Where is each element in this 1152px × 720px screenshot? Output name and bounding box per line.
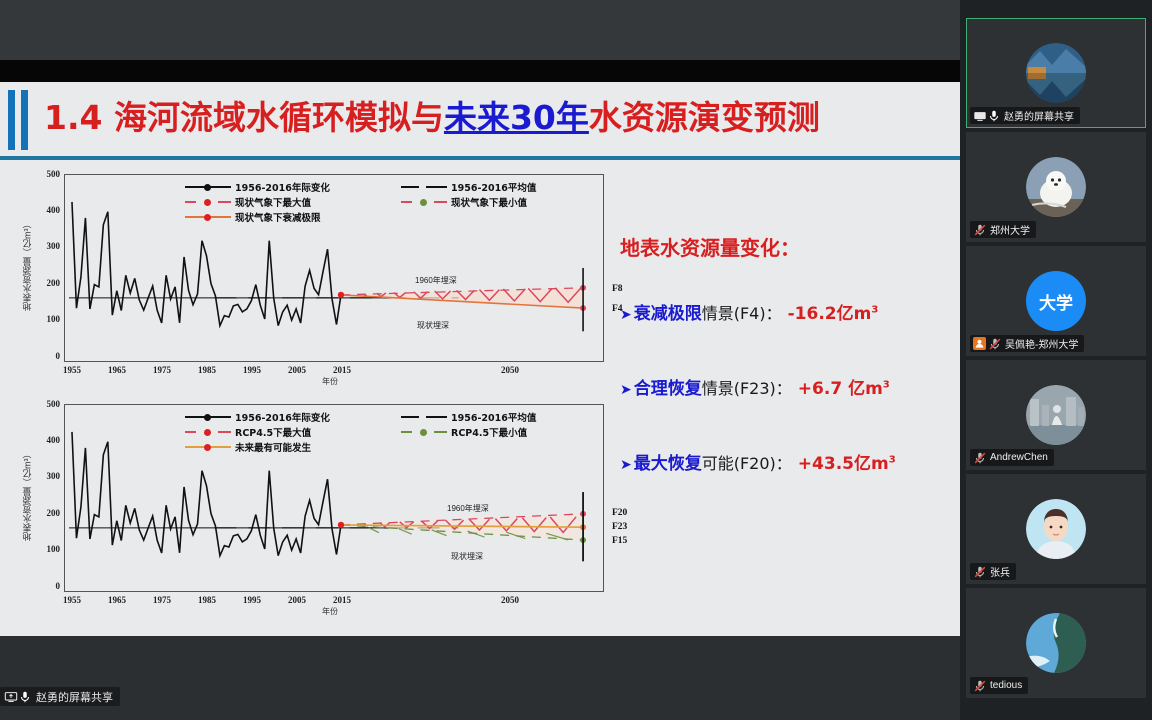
meeting-screen-share-view: 1.4 海河流域水循环模拟与未来30年水资源演变预测 地表水资源量（亿m³） 5… — [0, 0, 1152, 720]
legend-symbol-dashed-marker — [185, 196, 231, 207]
chart2-projection-fan — [338, 511, 586, 543]
ytick: 200 — [47, 278, 61, 288]
microphone-muted-icon — [988, 337, 1002, 351]
bullet-list: 地表水资源量变化： ➤ 衰减极限 情景(F4)： -16.2亿m3 ➤ 合理恢复… — [620, 232, 950, 524]
bullet-value-text: +6.7 亿m — [798, 379, 883, 399]
bullet-scenario-name: 最大恢复 — [634, 449, 702, 474]
legend-entry: RCP4.5下最大值 — [185, 424, 401, 439]
screen-share-icon — [4, 690, 18, 704]
bullet-value-exponent: 3 — [889, 454, 896, 465]
participant-tile-zhaoyong-share[interactable]: 赵勇的屏幕共享 — [966, 18, 1146, 128]
chart1-yaxis-title: 地表水资源量（亿m³） — [18, 180, 36, 350]
chart2-yaxis-ticks: 500 400 300 200 100 0 — [36, 396, 62, 592]
ytick: 300 — [47, 471, 61, 481]
microphone-muted-icon — [973, 223, 987, 237]
ytick: 500 — [47, 169, 61, 179]
chart-rcp45: 地表水资源量（亿m³） 500 400 300 200 100 0 — [16, 396, 612, 624]
slide-title-bar: 1.4 海河流域水循环模拟与未来30年水资源演变预测 — [0, 82, 960, 154]
person-illustration-avatar — [1026, 499, 1086, 559]
xtick: 1955 — [63, 365, 81, 375]
screen-share-icon — [973, 109, 987, 123]
participant-tile-zhengzhou-daxue[interactable]: 郑州大学 — [966, 132, 1146, 242]
participant-tile-tedious[interactable]: tedious — [966, 588, 1146, 698]
list-item: ➤ 衰减极限 情景(F4)： -16.2亿m3 — [620, 299, 950, 324]
xtick: 1985 — [198, 595, 216, 605]
legend-label: RCP4.5下最小值 — [451, 425, 527, 439]
bullet-arrow-icon: ➤ — [620, 381, 632, 398]
chart1-annotation-above: 1960年埋深 — [415, 275, 457, 286]
legend-entry: 现状气象下衰减极限 — [185, 209, 401, 224]
initials-avatar: 大学 — [1026, 271, 1086, 331]
legend-entry: 1956-2016年际变化 — [185, 179, 401, 194]
ytick: 0 — [56, 351, 61, 361]
ytick: 100 — [47, 544, 61, 554]
ytick: 200 — [47, 508, 61, 518]
letterbox-black-band — [0, 60, 960, 82]
legend-symbol-solid-marker — [185, 411, 231, 422]
bullet-arrow-icon: ➤ — [620, 456, 632, 473]
chart2-plot-area: 1956-2016年际变化 1956-2016平均值 — [64, 404, 604, 592]
participant-label: 赵勇的屏幕共享 — [970, 107, 1080, 124]
participant-name: AndrewChen — [990, 452, 1048, 463]
participant-label: 郑州大学 — [970, 221, 1036, 238]
ytick: 0 — [56, 581, 61, 591]
legend-label: 现状气象下最大值 — [235, 195, 311, 209]
participant-name: 郑州大学 — [990, 222, 1030, 237]
legend-symbol-dashed — [401, 411, 447, 422]
chart2-legend: 1956-2016年际变化 1956-2016平均值 — [185, 409, 589, 454]
xtick: 1975 — [153, 595, 171, 605]
avatar-initials: 大学 — [1039, 289, 1073, 314]
bullets-heading: 地表水资源量变化： — [620, 232, 950, 261]
legend-label: 1956-2016平均值 — [451, 410, 536, 424]
bullet-value-exponent: 3 — [871, 304, 878, 315]
participant-label: AndrewChen — [970, 449, 1054, 466]
page-title: 1.4 海河流域水循环模拟与未来30年水资源演变预测 — [44, 88, 950, 148]
letterbox-bottom — [0, 636, 960, 720]
lake-landscape-photo-avatar — [1026, 43, 1086, 103]
legend-label: 1956-2016年际变化 — [235, 410, 330, 424]
participant-label: 张兵 — [970, 563, 1016, 580]
legend-symbol-dashed — [401, 181, 447, 192]
screen-share-status-bar: 赵勇的屏幕共享 — [0, 687, 120, 706]
legend-entry: 现状气象下最小值 — [401, 194, 589, 209]
shared-screen-area: 1.4 海河流域水循环模拟与未来30年水资源演变预测 地表水资源量（亿m³） 5… — [0, 0, 960, 720]
chart2-xaxis-title: 年份 — [322, 606, 338, 617]
participant-filmstrip[interactable]: 赵勇的屏幕共享 — [960, 0, 1152, 720]
legend-label: 1956-2016年际变化 — [235, 180, 330, 194]
legend-label: 1956-2016平均值 — [451, 180, 536, 194]
microphone-muted-icon — [973, 451, 987, 465]
title-suffix: 水资源演变预测 — [589, 98, 820, 137]
chart1-xaxis-title: 年份 — [322, 376, 338, 387]
xtick: 1995 — [243, 365, 261, 375]
xtick: 1955 — [63, 595, 81, 605]
bullet-value-exponent: 3 — [883, 379, 890, 390]
microphone-icon — [987, 109, 1001, 123]
xtick: 2015 — [333, 595, 351, 605]
legend-symbol-solid-marker — [185, 441, 231, 452]
ytick: 500 — [47, 399, 61, 409]
chart2-endpoint-label-f15: F15 — [612, 536, 627, 546]
xtick: 1995 — [243, 595, 261, 605]
legend-symbol-dashed-marker — [185, 426, 231, 437]
bullet-scenario-name: 衰减极限 — [634, 299, 702, 324]
participant-tile-andrewchen[interactable]: AndrewChen — [966, 360, 1146, 470]
letterbox-top — [0, 0, 960, 60]
legend-symbol-solid-marker — [185, 181, 231, 192]
bullet-value-text: -16.2亿m — [788, 304, 872, 324]
list-item: ➤ 合理恢复 情景(F23)： +6.7 亿m3 — [620, 374, 950, 399]
legend-entry: 1956-2016平均值 — [401, 179, 589, 194]
bullet-scenario-code: 可能(F20)： — [702, 450, 792, 474]
bullet-arrow-icon: ➤ — [620, 306, 632, 323]
microphone-icon — [18, 690, 32, 704]
legend-entry: 未来最有可能发生 — [185, 439, 401, 454]
chart1-legend: 1956-2016年际变化 1956-2016平均值 — [185, 179, 589, 224]
xtick: 2050 — [501, 365, 519, 375]
participant-label: 吴佩艳-郑州大学 — [970, 335, 1084, 352]
legend-label: RCP4.5下最大值 — [235, 425, 311, 439]
host-badge-icon — [973, 337, 986, 350]
legend-symbol-dashed-marker — [401, 426, 447, 437]
xtick: 2050 — [501, 595, 519, 605]
participant-tile-wupeiyan[interactable]: 大学 吴佩艳-郑州大学 — [966, 246, 1146, 356]
ytick: 400 — [47, 435, 61, 445]
title-prefix: 1.4 海河流域水循环模拟与 — [44, 98, 444, 137]
legend-label: 现状气象下最小值 — [451, 195, 527, 209]
charts-container: 地表水资源量（亿m³） 500 400 300 200 100 0 — [16, 166, 612, 626]
participant-name: 赵勇的屏幕共享 — [1004, 108, 1074, 123]
participant-name: 吴佩艳-郑州大学 — [1005, 336, 1078, 351]
list-item: ➤ 最大恢复 可能(F20)： +43.5亿m3 — [620, 449, 950, 474]
legend-entry: 1956-2016年际变化 — [185, 409, 401, 424]
participant-name: tedious — [990, 680, 1022, 691]
bullet-value: +6.7 亿m3 — [798, 374, 890, 399]
bullet-scenario-code: 情景(F4)： — [702, 300, 782, 324]
xtick: 2005 — [288, 365, 306, 375]
chart2-annotation-below: 现状埋深 — [451, 551, 483, 562]
legend-entry: RCP4.5下最小值 — [401, 424, 589, 439]
ytick: 300 — [47, 241, 61, 251]
participant-label: tedious — [970, 677, 1028, 694]
legend-symbol-dashed-marker — [401, 196, 447, 207]
white-seal-photo-avatar — [1026, 157, 1086, 217]
legend-entry: 现状气象下最大值 — [185, 194, 401, 209]
coastline-photo-avatar — [1026, 613, 1086, 673]
chart1-yaxis-ticks: 500 400 300 200 100 0 — [36, 166, 62, 362]
bullet-value-text: +43.5亿m — [798, 454, 889, 474]
legend-label: 未来最有可能发生 — [235, 440, 311, 454]
legend-entry: 1956-2016平均值 — [401, 409, 589, 424]
legend-symbol-solid-marker — [185, 211, 231, 222]
bullet-value: +43.5亿m3 — [798, 449, 896, 474]
participant-tile-zhangbing[interactable]: 张兵 — [966, 474, 1146, 584]
ytick: 100 — [47, 314, 61, 324]
xtick: 1985 — [198, 365, 216, 375]
bullet-scenario-name: 合理恢复 — [634, 374, 702, 399]
bullet-value: -16.2亿m3 — [788, 299, 879, 324]
chart2-annotation-above: 1960年埋深 — [447, 503, 489, 514]
xtick: 2015 — [333, 365, 351, 375]
microphone-muted-icon — [973, 679, 987, 693]
title-highlight: 未来30年 — [444, 98, 589, 137]
xtick: 2005 — [288, 595, 306, 605]
chart1-annotation-below: 现状埋深 — [417, 320, 449, 331]
chart1-plot-area: 1956-2016年际变化 1956-2016平均值 — [64, 174, 604, 362]
chart-current-climate: 地表水资源量（亿m³） 500 400 300 200 100 0 — [16, 166, 612, 394]
bullet-scenario-code: 情景(F23)： — [702, 375, 792, 399]
ytick: 400 — [47, 205, 61, 215]
xtick: 1975 — [153, 365, 171, 375]
xtick: 1965 — [108, 365, 126, 375]
legend-label: 现状气象下衰减极限 — [235, 210, 321, 224]
screen-share-owner-label: 赵勇的屏幕共享 — [36, 689, 113, 705]
city-fountain-photo-avatar — [1026, 385, 1086, 445]
chart2-yaxis-title: 地表水资源量（亿m³） — [18, 410, 36, 580]
microphone-muted-icon — [973, 565, 987, 579]
presentation-slide: 1.4 海河流域水循环模拟与未来30年水资源演变预测 地表水资源量（亿m³） 5… — [0, 82, 960, 636]
xtick: 1965 — [108, 595, 126, 605]
title-divider-rule — [0, 156, 960, 160]
title-accent-bars — [8, 90, 34, 150]
participant-name: 张兵 — [990, 564, 1010, 579]
